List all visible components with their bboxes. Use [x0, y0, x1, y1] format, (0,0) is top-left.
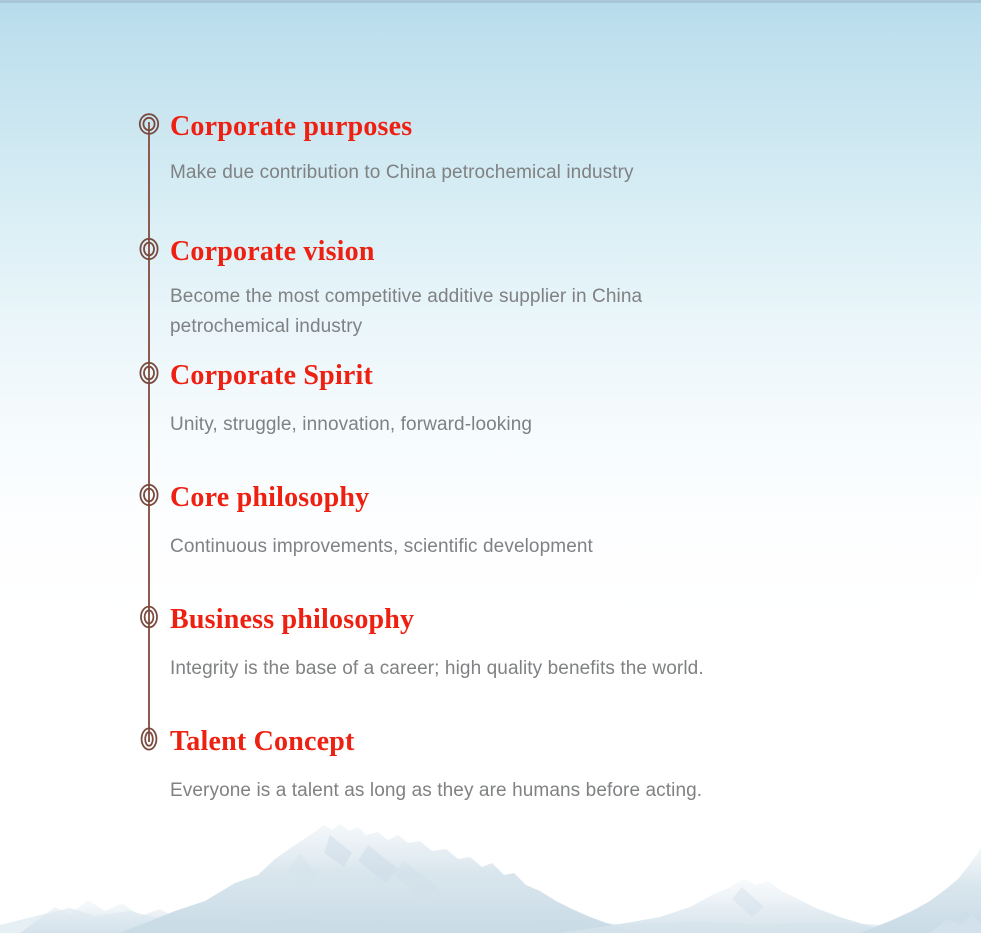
double-ring-circle-icon — [138, 483, 160, 507]
timeline-item-title: Core philosophy — [170, 481, 870, 515]
timeline-item-description: Continuous improvements, scientific deve… — [170, 532, 870, 562]
timeline-item-description: Make due contribution to China petrochem… — [170, 158, 870, 188]
timeline-item-text: Business philosophy Integrity is the bas… — [170, 603, 870, 684]
double-ring-circle-icon — [138, 727, 160, 751]
timeline-item-text: Talent Concept Everyone is a talent as l… — [170, 725, 870, 806]
double-ring-circle-icon — [138, 361, 160, 385]
double-ring-circle-icon — [138, 605, 160, 629]
double-ring-circle-icon — [138, 112, 160, 136]
timeline-item-title: Business philosophy — [170, 603, 870, 637]
timeline-item-title: Corporate Spirit — [170, 359, 870, 393]
timeline-item-title: Corporate purposes — [170, 110, 870, 144]
timeline-item-text: Corporate Spirit Unity, struggle, innova… — [170, 359, 870, 440]
timeline-item-description: Everyone is a talent as long as they are… — [170, 776, 870, 806]
timeline-item-title: Talent Concept — [170, 725, 870, 759]
timeline-list: Corporate purposes Make due contribution… — [0, 0, 981, 933]
timeline-item-description: Integrity is the base of a career; high … — [170, 654, 870, 684]
timeline-item-text: Corporate vision Become the most competi… — [170, 235, 870, 342]
corporate-culture-page: Corporate purposes Make due contribution… — [0, 0, 981, 933]
timeline-item-text: Corporate purposes Make due contribution… — [170, 110, 870, 188]
timeline-item-description: Become the most competitive additive sup… — [170, 282, 760, 342]
timeline-item-text: Core philosophy Continuous improvements,… — [170, 481, 870, 562]
timeline-item-description: Unity, struggle, innovation, forward-loo… — [170, 410, 870, 440]
timeline-item-title: Corporate vision — [170, 235, 870, 269]
double-ring-circle-icon — [138, 237, 160, 261]
